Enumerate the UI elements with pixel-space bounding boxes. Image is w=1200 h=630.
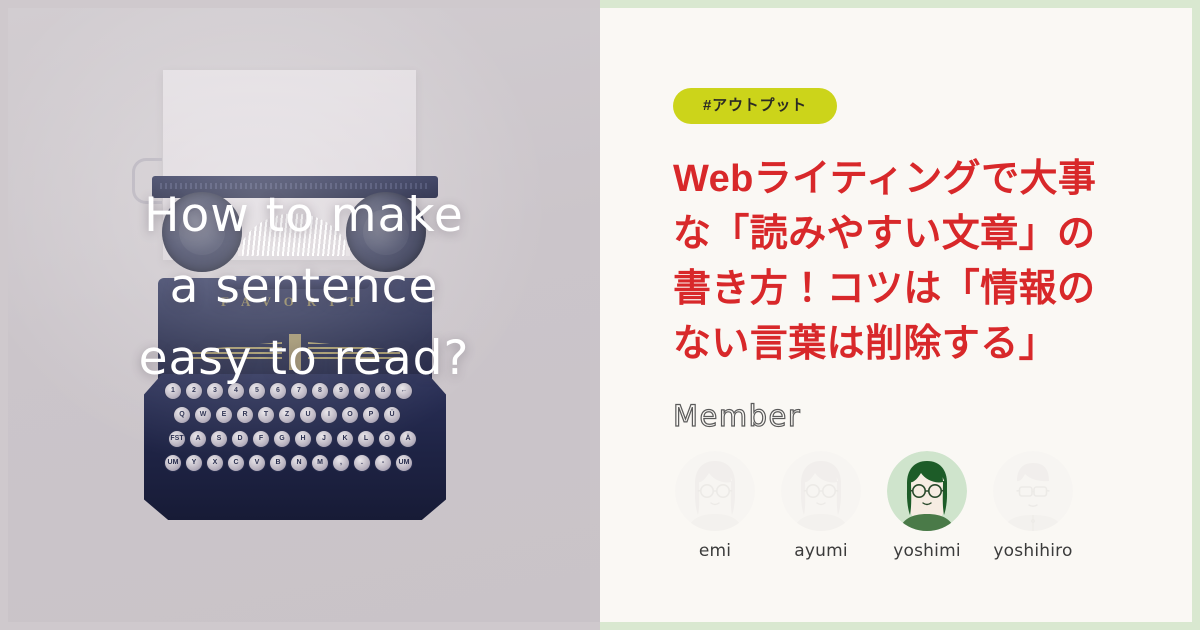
- article-title: Webライティングで大事な「読みやすい文章」の書き方！コツは「情報のない言葉は削…: [673, 152, 1123, 372]
- member-item-emi[interactable]: emi: [673, 451, 757, 561]
- typewriter-key: O: [341, 406, 359, 424]
- avatar-yoshimi[interactable]: [887, 451, 967, 531]
- typewriter-key: S: [210, 430, 228, 448]
- key-row-2: FSTASDFGHJKLÖÄ: [164, 430, 426, 452]
- hero-title-line-0: How to make: [26, 180, 582, 251]
- typewriter-key: L: [357, 430, 375, 448]
- typewriter-photo: FAVORIT 1234567890ß←QWERTZUIOPÜFSTASDFGH…: [8, 8, 600, 622]
- typewriter-key: B: [269, 454, 287, 472]
- typewriter-key: Ä: [399, 430, 417, 448]
- typewriter-key: K: [336, 430, 354, 448]
- typewriter-key: A: [189, 430, 207, 448]
- avatar-yoshihiro[interactable]: [993, 451, 1073, 531]
- typewriter-key: E: [215, 406, 233, 424]
- key-row-3: UMYXCVBNM,.-UM: [164, 454, 426, 476]
- typewriter-key: X: [206, 454, 224, 472]
- typewriter-key: P: [362, 406, 380, 424]
- typewriter-key: I: [320, 406, 338, 424]
- typewriter-key: Z: [278, 406, 296, 424]
- typewriter-key: J: [315, 430, 333, 448]
- hero-title-line-2: easy to read?: [26, 323, 582, 394]
- typewriter-key: H: [294, 430, 312, 448]
- member-name-label: ayumi: [779, 541, 863, 561]
- typewriter-key: M: [311, 454, 329, 472]
- typewriter-key: FST: [168, 430, 186, 448]
- typewriter-key: -: [374, 454, 392, 472]
- typewriter-key: Y: [185, 454, 203, 472]
- typewriter-key: W: [194, 406, 212, 424]
- ogp-card: FAVORIT 1234567890ß←QWERTZUIOPÜFSTASDFGH…: [0, 0, 1200, 630]
- typewriter-key: N: [290, 454, 308, 472]
- typewriter-key: UM: [164, 454, 182, 472]
- member-item-yoshimi[interactable]: yoshimi: [885, 451, 969, 561]
- hero-title-line-1: a sentence: [26, 251, 582, 322]
- typewriter-keyboard: 1234567890ß←QWERTZUIOPÜFSTASDFGHJKLÖÄUMY…: [164, 382, 426, 486]
- hero-overlay-title: How to makea sentenceeasy to read?: [8, 180, 600, 394]
- typewriter-key: T: [257, 406, 275, 424]
- member-section-label: Member: [673, 402, 1132, 431]
- member-item-ayumi[interactable]: ayumi: [779, 451, 863, 561]
- article-info-panel: #アウトプット Webライティングで大事な「読みやすい文章」の書き方！コツは「情…: [600, 8, 1192, 622]
- typewriter-key: .: [353, 454, 371, 472]
- typewriter-key: Ü: [383, 406, 401, 424]
- member-name-label: yoshimi: [885, 541, 969, 561]
- typewriter-key: V: [248, 454, 266, 472]
- typewriter-key: R: [236, 406, 254, 424]
- member-item-yoshihiro[interactable]: yoshihiro: [991, 451, 1075, 561]
- typewriter-key: ,: [332, 454, 350, 472]
- avatar-ayumi[interactable]: [781, 451, 861, 531]
- member-name-label: emi: [673, 541, 757, 561]
- typewriter-key: C: [227, 454, 245, 472]
- typewriter-key: F: [252, 430, 270, 448]
- typewriter-key: Q: [173, 406, 191, 424]
- typewriter-key: G: [273, 430, 291, 448]
- category-badge[interactable]: #アウトプット: [673, 88, 837, 124]
- key-row-1: QWERTZUIOPÜ: [164, 406, 426, 428]
- typewriter-key: UM: [395, 454, 413, 472]
- hero-photo-panel: FAVORIT 1234567890ß←QWERTZUIOPÜFSTASDFGH…: [0, 0, 600, 630]
- typewriter-key: Ö: [378, 430, 396, 448]
- typewriter-key: U: [299, 406, 317, 424]
- member-list: emi ayumi yoshimi: [673, 451, 1132, 561]
- member-name-label: yoshihiro: [991, 541, 1075, 561]
- typewriter-key: D: [231, 430, 249, 448]
- avatar-emi[interactable]: [675, 451, 755, 531]
